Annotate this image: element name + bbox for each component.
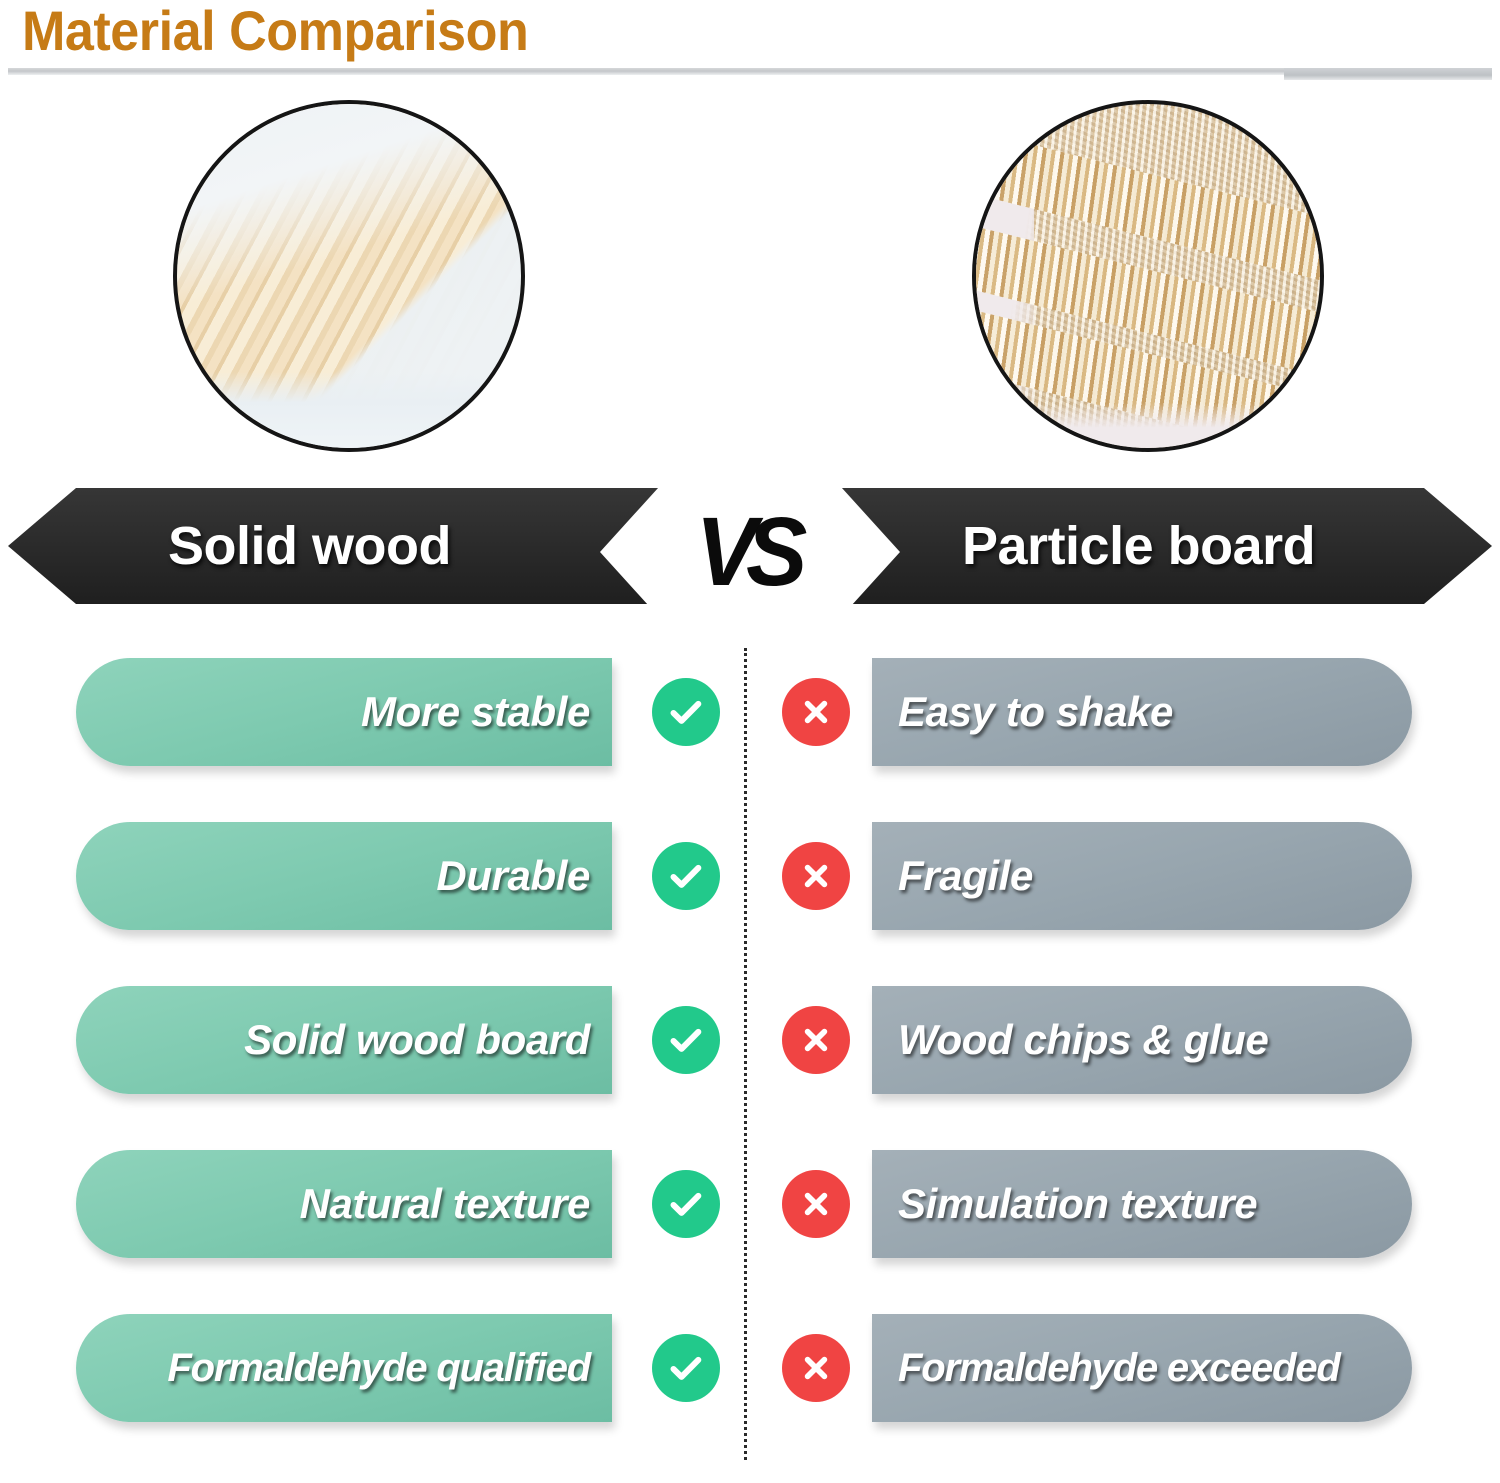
solid-wood-pill: Durable <box>76 822 612 930</box>
comparison-table: More stable Easy to shake Durable <box>0 646 1500 1466</box>
particle-board-photo <box>972 100 1324 452</box>
particle-board-pill-label: Wood chips & glue <box>898 1016 1268 1064</box>
solid-wood-pill: Natural texture <box>76 1150 612 1258</box>
cross-circle-icon <box>782 678 850 746</box>
solid-wood-pill: More stable <box>76 658 612 766</box>
comparison-row: More stable Easy to shake <box>0 658 1500 766</box>
material-comparison-infographic: Material Comparison Solid wood Particle … <box>0 0 1500 1483</box>
particle-board-edge-bottom <box>976 403 1320 448</box>
cross-circle-icon <box>782 1334 850 1402</box>
particle-board-pill-label: Easy to shake <box>898 688 1173 736</box>
page-title: Material Comparison <box>22 0 528 63</box>
check-circle-icon <box>652 1170 720 1238</box>
solid-wood-banner-label: Solid wood <box>168 515 451 577</box>
particle-board-pill: Fragile <box>872 822 1412 930</box>
check-circle-icon <box>652 678 720 746</box>
solid-wood-pill-label: Formaldehyde qualified <box>167 1346 590 1391</box>
versus-banner: Solid wood Particle board VS <box>0 466 1500 638</box>
particle-board-pill-label: Fragile <box>898 852 1033 900</box>
particle-board-pill: Easy to shake <box>872 658 1412 766</box>
cross-circle-icon <box>782 1006 850 1074</box>
comparison-row: Solid wood board Wood chips & glue <box>0 986 1500 1094</box>
check-circle-icon <box>652 1334 720 1402</box>
comparison-row: Durable Fragile <box>0 822 1500 930</box>
particle-board-pill-label: Simulation texture <box>898 1180 1257 1228</box>
solid-wood-pill-label: Natural texture <box>300 1180 590 1228</box>
particle-board-pill: Simulation texture <box>872 1150 1412 1258</box>
solid-wood-photo <box>173 100 525 452</box>
solid-wood-pill-label: More stable <box>361 688 590 736</box>
cross-circle-icon <box>782 842 850 910</box>
cross-circle-icon <box>782 1170 850 1238</box>
particle-board-pill: Wood chips & glue <box>872 986 1412 1094</box>
solid-wood-pill: Solid wood board <box>76 986 612 1094</box>
title-divider-rule <box>8 68 1492 75</box>
comparison-row: Formaldehyde qualified Formaldehyde exce… <box>0 1314 1500 1422</box>
solid-wood-pill-label: Solid wood board <box>244 1016 590 1064</box>
particle-board-banner-label: Particle board <box>962 515 1315 577</box>
solid-wood-pill: Formaldehyde qualified <box>76 1314 612 1422</box>
comparison-row: Natural texture Simulation texture <box>0 1150 1500 1258</box>
vs-label: VS <box>696 496 797 607</box>
solid-wood-pill-label: Durable <box>436 852 590 900</box>
check-circle-icon <box>652 1006 720 1074</box>
check-circle-icon <box>652 842 720 910</box>
particle-board-pill: Formaldehyde exceeded <box>872 1314 1412 1422</box>
particle-board-pill-label: Formaldehyde exceeded <box>898 1346 1340 1391</box>
title-divider-rule-cap <box>1284 68 1492 80</box>
